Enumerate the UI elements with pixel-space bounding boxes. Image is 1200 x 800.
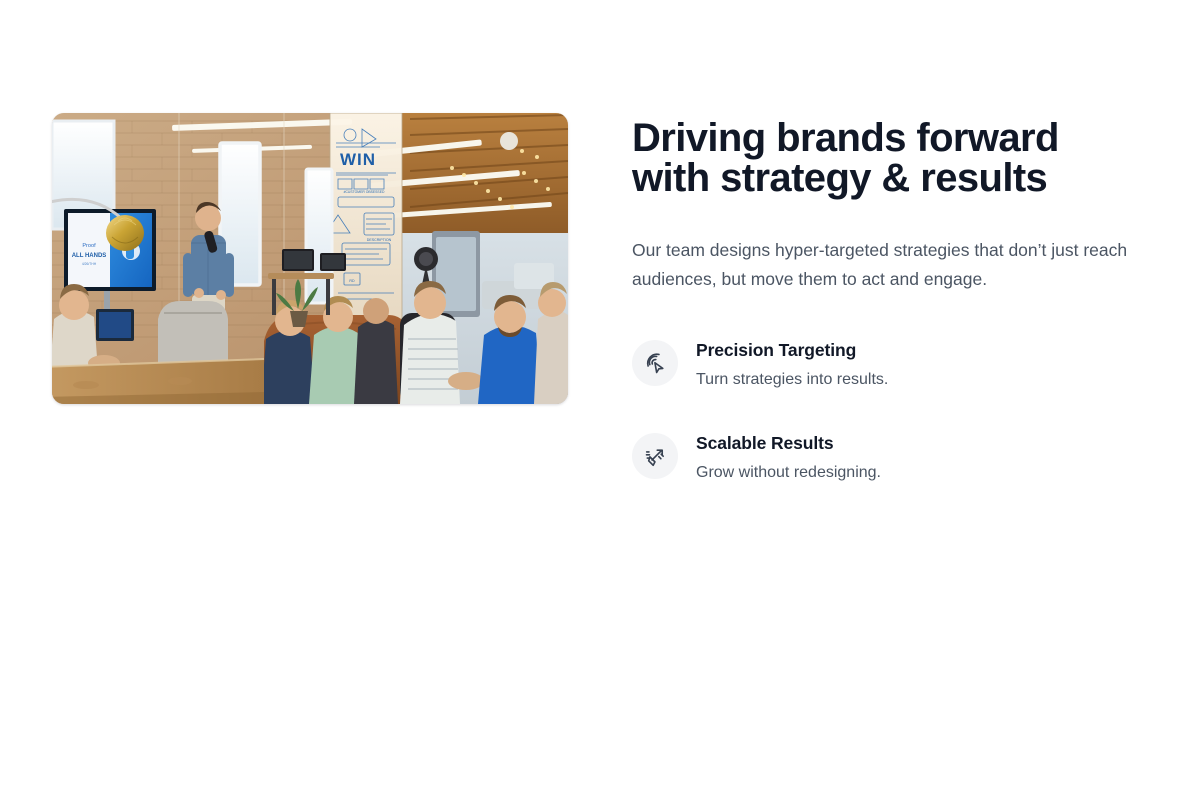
hero-subcopy: Our team designs hyper-targeted strategi… (632, 236, 1148, 294)
svg-text:DESCRIPTION: DESCRIPTION (367, 238, 392, 242)
feature-body: Precision Targeting Turn strategies into… (696, 338, 888, 391)
feature-section: WIN (0, 0, 1200, 800)
feature-list: Precision Targeting Turn strategies into… (632, 338, 1148, 484)
svg-text:#CUSTOMER OBSESSED: #CUSTOMER OBSESSED (344, 190, 385, 194)
content-column: Driving brands forward with strategy & r… (632, 113, 1148, 484)
cursor-click-icon (632, 340, 678, 386)
feature-description: Turn strategies into results. (696, 369, 888, 391)
two-column-grid: WIN (52, 113, 1148, 484)
page-title: Driving brands forward with strategy & r… (632, 118, 1148, 198)
feature-body: Scalable Results Grow without redesignin… (696, 431, 881, 484)
svg-text:RD: RD (349, 279, 355, 283)
rocket-launch-icon (632, 433, 678, 479)
feature-item-precision-targeting: Precision Targeting Turn strategies into… (632, 338, 1148, 391)
feature-title: Scalable Results (696, 432, 881, 455)
svg-text:Proof: Proof (82, 243, 96, 249)
feature-item-scalable-results: Scalable Results Grow without redesignin… (632, 431, 1148, 484)
feature-title: Precision Targeting (696, 339, 888, 362)
svg-text:ALL HANDS: ALL HANDS (72, 253, 107, 259)
svg-text:WIN: WIN (340, 150, 376, 169)
headline-line-2: with strategy & results (632, 158, 1148, 198)
headline-line-1: Driving brands forward (632, 118, 1148, 158)
feature-description: Grow without redesigning. (696, 462, 881, 484)
svg-text:4/26/7HH: 4/26/7HH (82, 262, 97, 266)
media-column: WIN (52, 113, 568, 404)
hero-image: WIN (52, 113, 568, 404)
